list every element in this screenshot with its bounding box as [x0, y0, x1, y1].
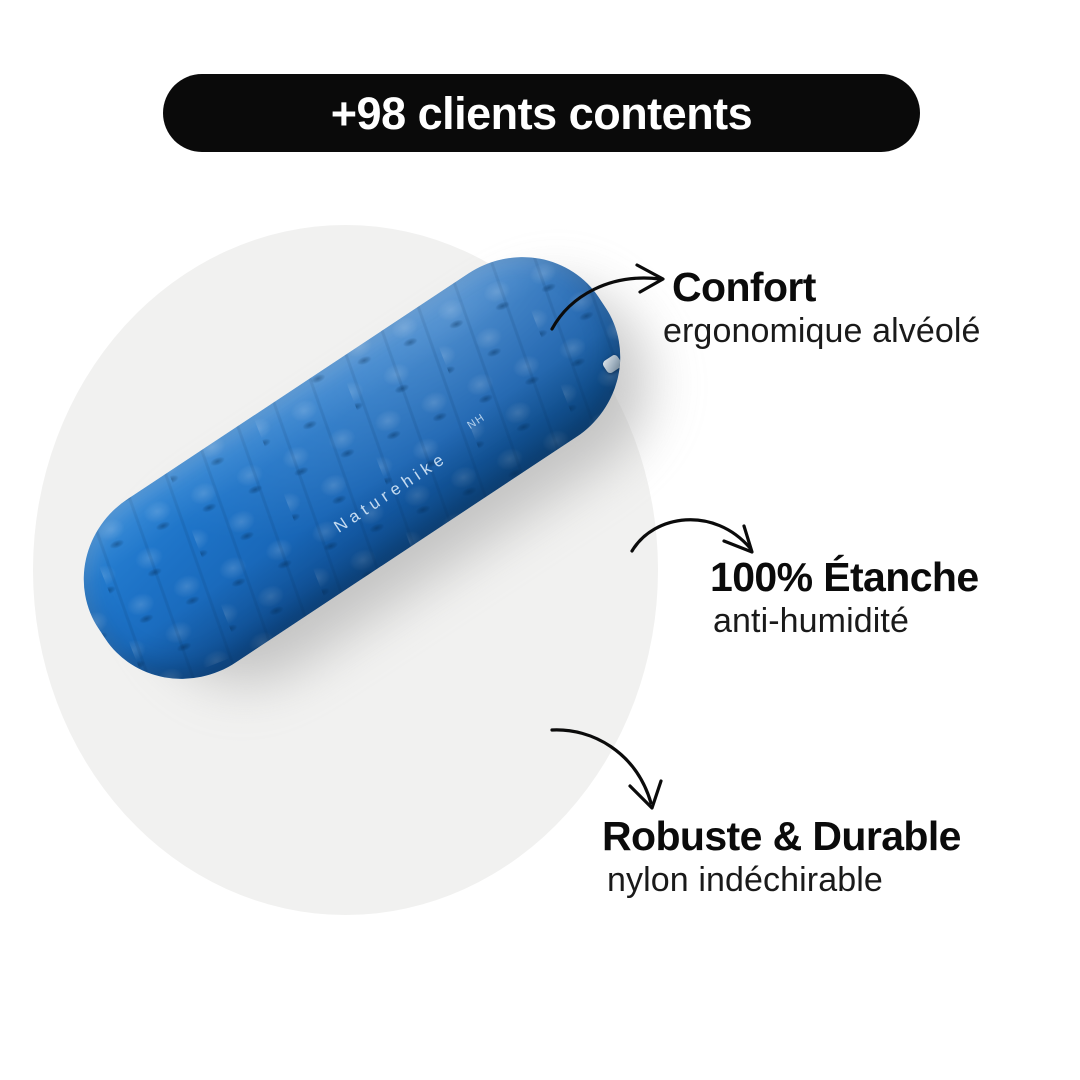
feature-subtitle: anti-humidité	[713, 602, 979, 640]
feature-subtitle: ergonomique alvéolé	[663, 312, 981, 350]
feature-callout-comfort: Confort ergonomique alvéolé	[672, 266, 981, 350]
feature-callout-waterproof: 100% Étanche anti-humidité	[710, 556, 979, 640]
product-infographic: +98 clients contents Naturehike NH Confo…	[0, 0, 1080, 1080]
curved-arrow-up-right-icon	[548, 256, 678, 336]
curved-arrow-down-icon	[548, 720, 683, 820]
feature-title: 100% Étanche	[710, 556, 979, 599]
feature-title: Robuste & Durable	[602, 815, 961, 858]
feature-title: Confort	[672, 266, 981, 309]
feature-callout-durable: Robuste & Durable nylon indéchirable	[602, 815, 961, 899]
social-proof-badge: +98 clients contents	[163, 74, 920, 152]
social-proof-badge-label: +98 clients contents	[331, 91, 752, 136]
feature-subtitle: nylon indéchirable	[607, 861, 961, 899]
